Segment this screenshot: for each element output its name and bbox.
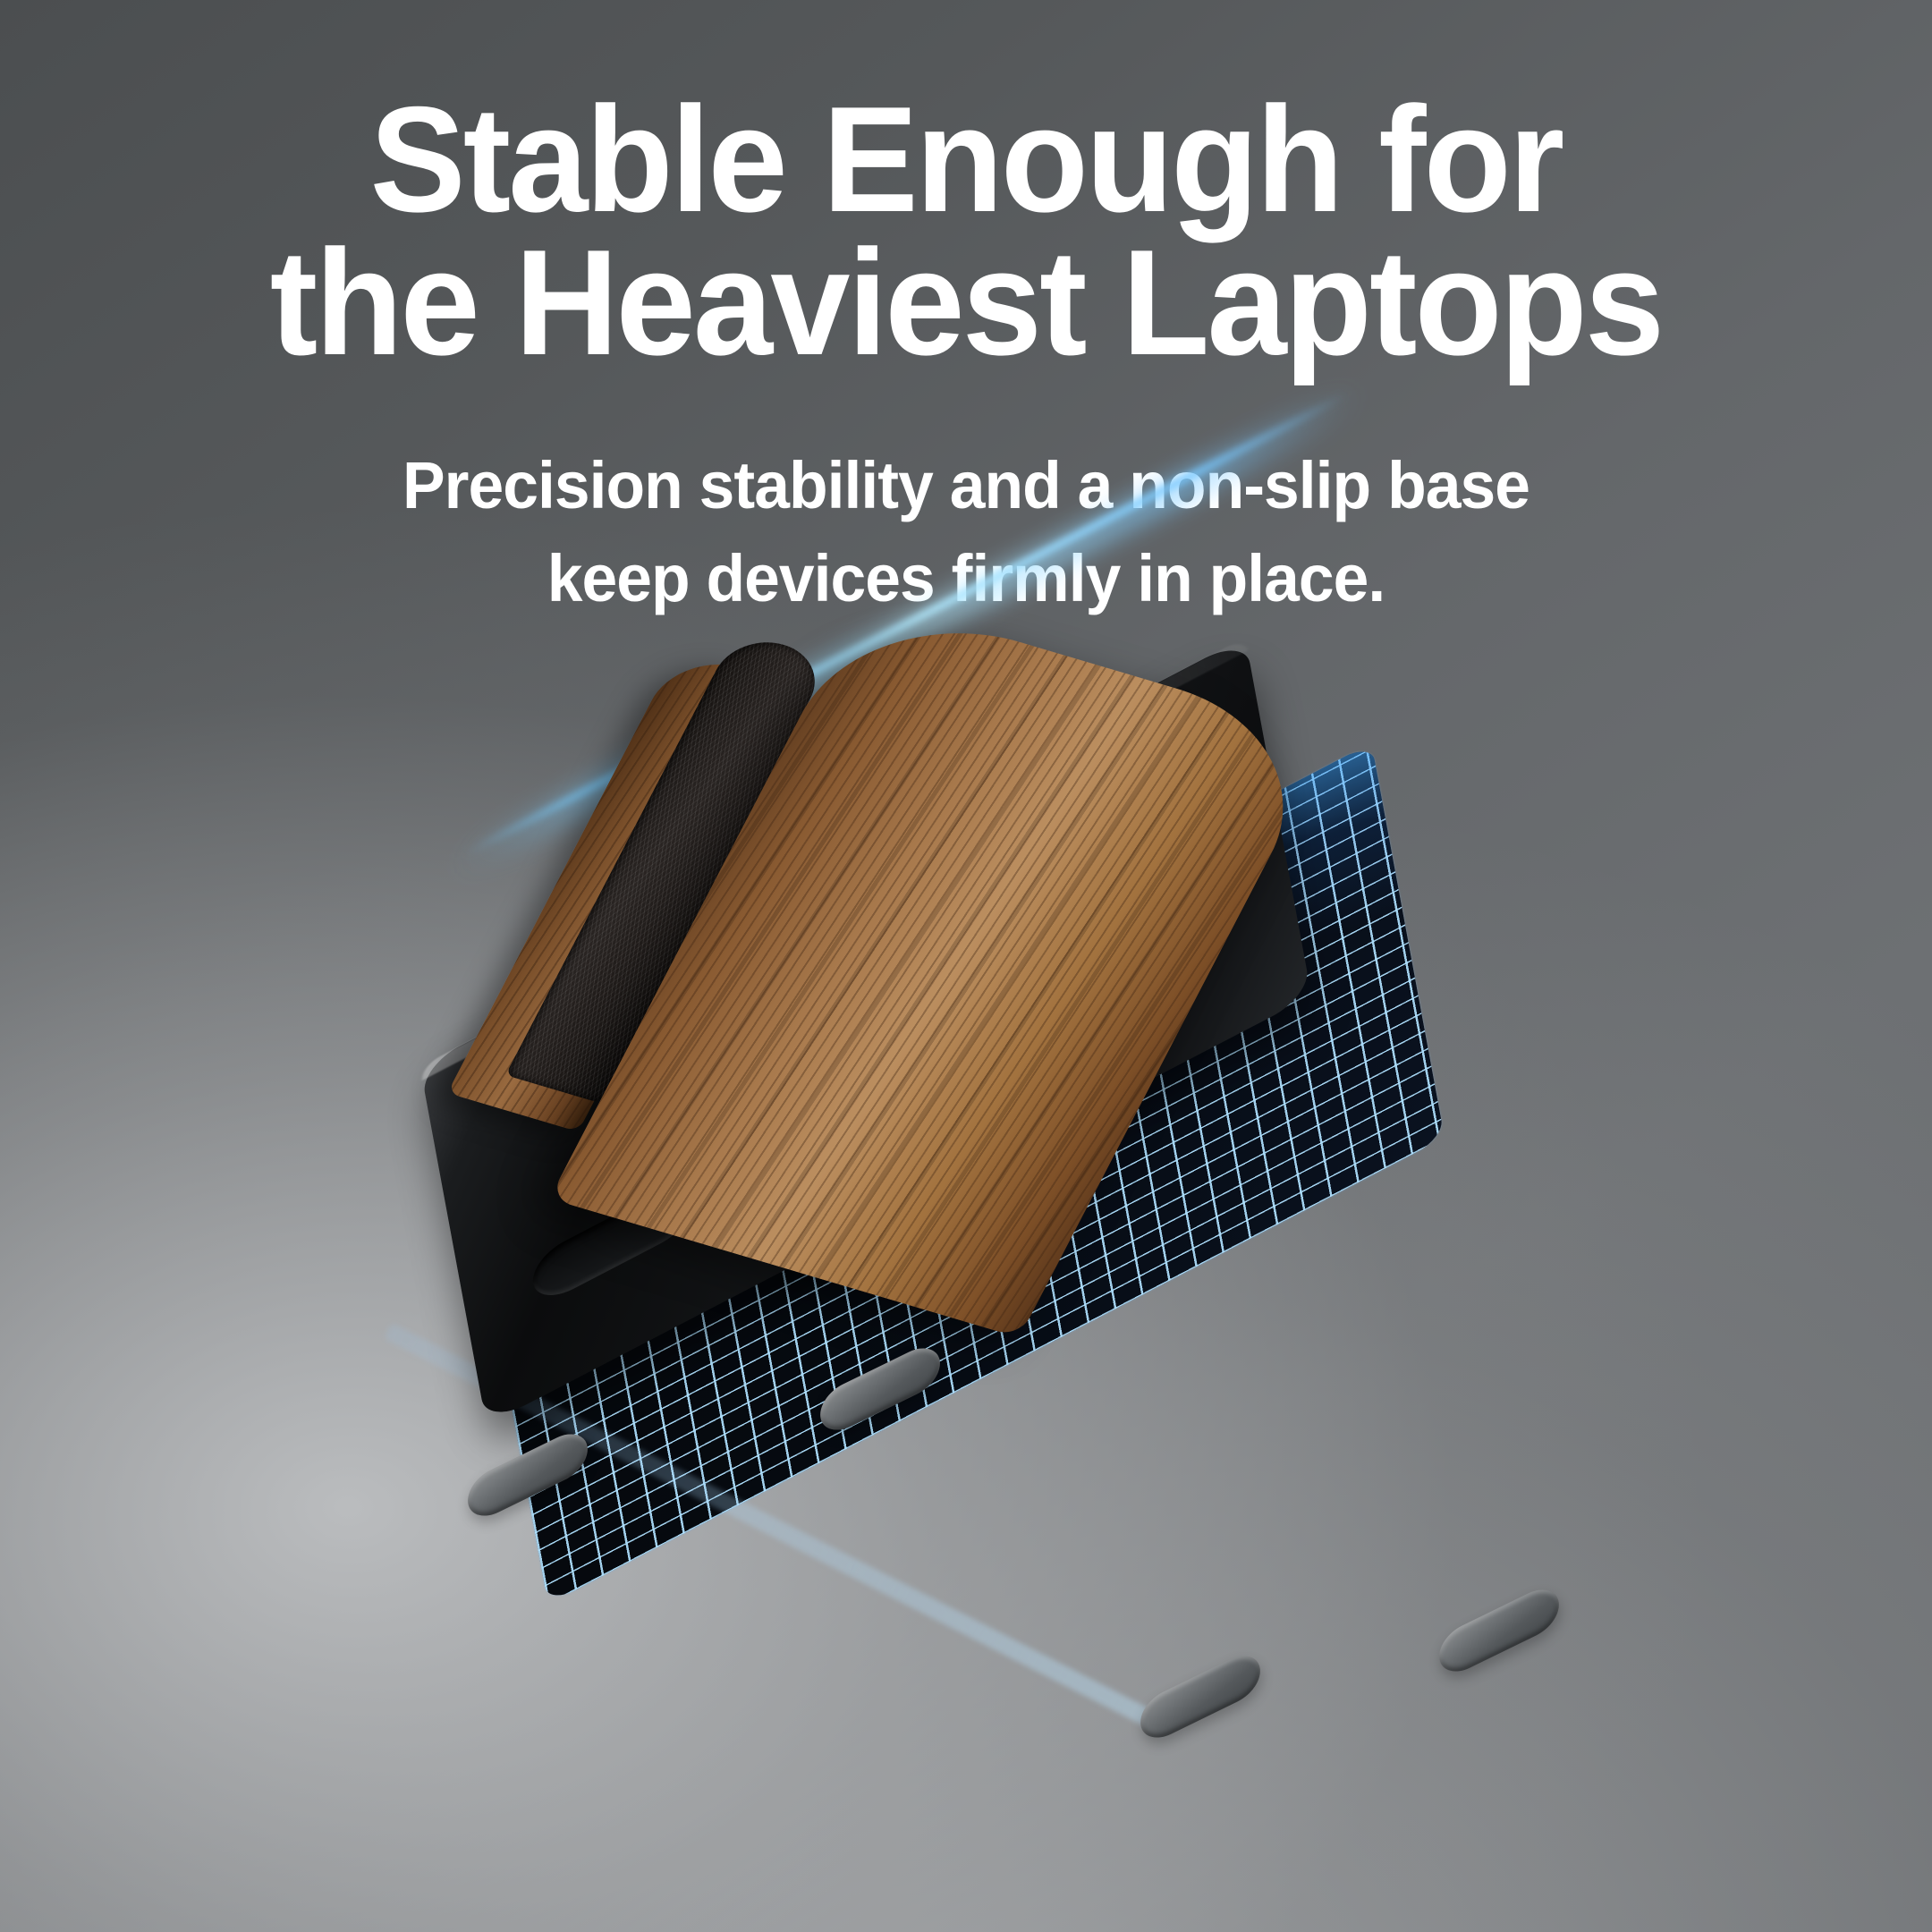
text-block: Stable Enough for the Heaviest Laptops P… [0, 0, 1932, 625]
headline-line-2: the Heaviest Laptops [44, 231, 1889, 374]
product-image [0, 626, 1932, 1932]
page-title: Stable Enough for the Heaviest Laptops [44, 0, 1889, 374]
subheadline-line-1: Precision stability and a non-slip base [34, 374, 1898, 532]
wood-upright-group [0, 626, 1932, 1932]
page-subtitle: Precision stability and a non-slip base … [34, 374, 1898, 625]
product-banner: Stable Enough for the Heaviest Laptops P… [0, 0, 1932, 1932]
headline-line-1: Stable Enough for [44, 0, 1889, 231]
